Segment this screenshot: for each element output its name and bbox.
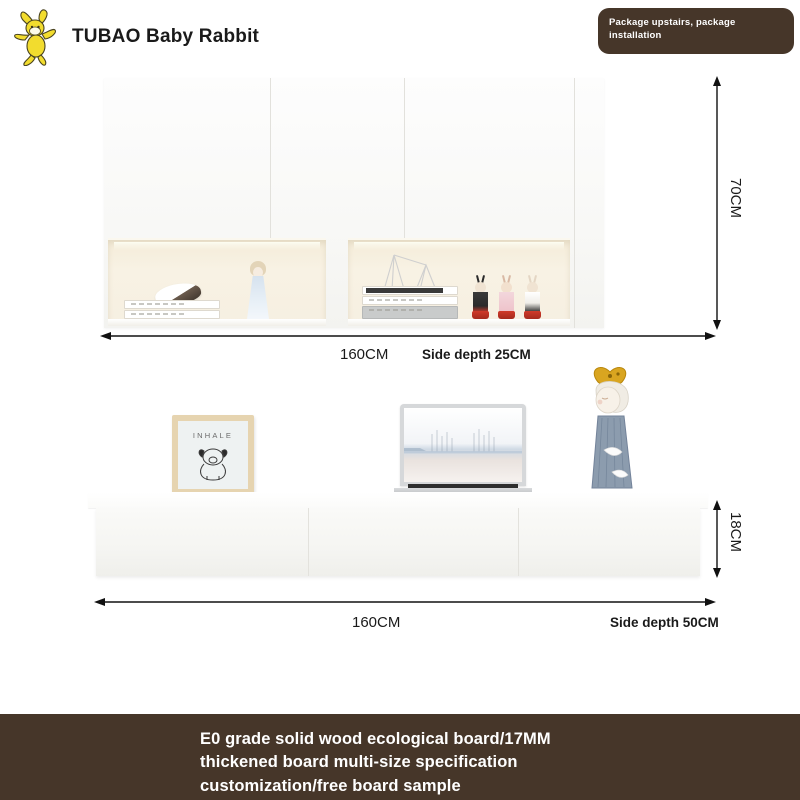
- upper-cabinet-doors: [104, 78, 604, 328]
- frame-mat: INHALE: [178, 421, 248, 489]
- book-andy-warhol: [362, 306, 458, 319]
- niche-light-strip: [114, 242, 320, 250]
- drawer-seam: [518, 508, 519, 576]
- door-seam: [270, 78, 271, 243]
- frame-art-text: INHALE: [193, 431, 233, 440]
- lower-cabinet: [88, 492, 708, 576]
- service-badge-text: Package upstairs, package installation: [609, 17, 783, 43]
- cabinet-top-surface: [88, 492, 708, 508]
- pug-drawing-icon: [190, 444, 236, 484]
- drawer-seam: [308, 508, 309, 576]
- brand-header: TUBAO Baby Rabbit: [12, 8, 259, 66]
- rabbit-figurine: [524, 275, 541, 319]
- picture-frame-decor: INHALE: [172, 415, 254, 495]
- upper-width-dimension-arrow: [100, 328, 716, 344]
- book-dior: [362, 286, 458, 295]
- laptop-screen: [400, 404, 526, 486]
- door-seam: [404, 78, 405, 243]
- lower-height-label: 18CM: [727, 512, 744, 552]
- display-niche-right: [348, 238, 570, 326]
- caption-text: E0 grade solid wood ecological board/17M…: [200, 728, 551, 798]
- cabinet-drawers: [96, 508, 700, 576]
- upper-height-dimension-arrow: [706, 76, 728, 330]
- lower-height-dimension-arrow: [706, 500, 728, 578]
- laptop-decor: [394, 404, 532, 496]
- upper-width-label: 160CM: [340, 346, 388, 363]
- upper-depth-label: Side depth 25CM: [422, 347, 531, 362]
- rabbit-logo-icon: [12, 8, 62, 66]
- book-art-for-survival: [362, 296, 458, 305]
- caption-line-2: thickened board multi-size specification: [200, 751, 551, 774]
- caption-line-1: E0 grade solid wood ecological board/17M…: [200, 728, 551, 751]
- upper-height-label: 70CM: [727, 178, 744, 218]
- rabbit-figurine: [498, 275, 515, 319]
- service-badge: Package upstairs, package installation: [598, 8, 794, 54]
- upper-cabinet: [104, 78, 604, 328]
- rabbit-figurine: [472, 275, 489, 319]
- caption-bar: E0 grade solid wood ecological board/17M…: [0, 714, 800, 800]
- door-seam: [574, 78, 575, 328]
- doll-figurine: [245, 261, 271, 319]
- brand-name: TUBAO Baby Rabbit: [72, 26, 259, 48]
- book: [124, 300, 220, 309]
- girl-figurine-decor: [578, 360, 646, 495]
- laptop-wallpaper: [404, 408, 522, 482]
- book-stack: [124, 299, 220, 319]
- caption-line-3: customization/free board sample: [200, 775, 551, 798]
- lower-width-label: 160CM: [352, 614, 400, 631]
- lower-width-dimension-arrow: [94, 594, 716, 610]
- book-stack: [362, 285, 458, 319]
- niche-floor: [348, 319, 570, 326]
- product-spec-image: TUBAO Baby Rabbit Package upstairs, pack…: [0, 0, 800, 800]
- lower-depth-label: Side depth 50CM: [610, 615, 719, 630]
- niche-floor: [108, 319, 326, 326]
- book: [124, 310, 220, 319]
- display-niche-left: [108, 238, 326, 326]
